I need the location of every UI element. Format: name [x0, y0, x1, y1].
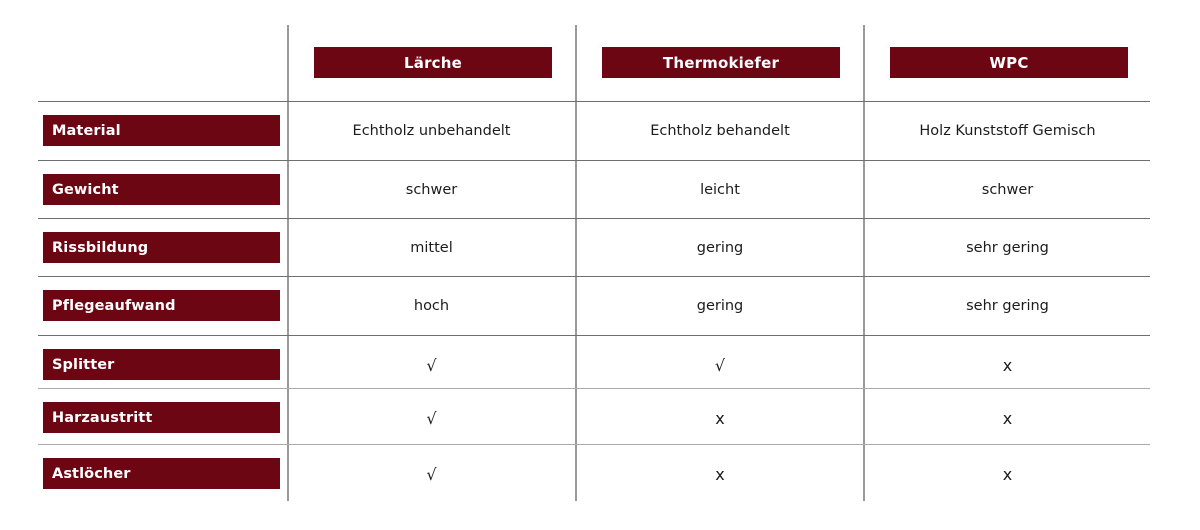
row-label-pflegeaufwand: Pflegeaufwand: [43, 290, 280, 321]
row-label-text: Harzaustritt: [52, 410, 152, 426]
table-cell: √: [288, 389, 575, 447]
table-cell: x: [577, 389, 863, 447]
table-cell: Holz Kunststoff Gemisch: [865, 102, 1150, 160]
table-row: Harzaustritt √ x x: [0, 389, 1200, 447]
table-cell: sehr gering: [865, 277, 1150, 335]
row-label-text: Astlöcher: [52, 466, 131, 482]
column-header-label: Lärche: [404, 54, 462, 72]
table-cell: √: [577, 336, 863, 394]
table-cell: hoch: [288, 277, 575, 335]
row-label-text: Rissbildung: [52, 240, 148, 256]
column-header-larche: Lärche: [314, 47, 552, 78]
comparison-table: Lärche Thermokiefer WPC Material Echthol…: [0, 0, 1200, 530]
table-cell: x: [865, 445, 1150, 503]
table-cell: leicht: [577, 161, 863, 219]
table-row: Material Echtholz unbehandelt Echtholz b…: [0, 102, 1200, 160]
row-label-gewicht: Gewicht: [43, 174, 280, 205]
table-header-row: Lärche Thermokiefer WPC: [0, 47, 1200, 78]
table-cell: √: [288, 445, 575, 503]
row-label-astloecher: Astlöcher: [43, 458, 280, 489]
row-label-text: Material: [52, 123, 121, 139]
row-label-splitter: Splitter: [43, 349, 280, 380]
table-cell: Echtholz unbehandelt: [288, 102, 575, 160]
column-header-thermokiefer: Thermokiefer: [602, 47, 840, 78]
table-cell: gering: [577, 277, 863, 335]
table-cell: sehr gering: [865, 219, 1150, 277]
table-row: Astlöcher √ x x: [0, 445, 1200, 503]
table-cell: gering: [577, 219, 863, 277]
table-cell: schwer: [288, 161, 575, 219]
row-label-material: Material: [43, 115, 280, 146]
table-cell: schwer: [865, 161, 1150, 219]
row-label-harzaustritt: Harzaustritt: [43, 402, 280, 433]
table-cell: √: [288, 336, 575, 394]
table-cell: x: [865, 336, 1150, 394]
table-cell: x: [577, 445, 863, 503]
column-header-label: Thermokiefer: [663, 54, 779, 72]
table-row: Splitter √ √ x: [0, 336, 1200, 394]
row-label-rissbildung: Rissbildung: [43, 232, 280, 263]
column-header-label: WPC: [989, 54, 1028, 72]
table-cell: x: [865, 389, 1150, 447]
row-label-text: Splitter: [52, 357, 114, 373]
row-label-text: Gewicht: [52, 182, 119, 198]
table-cell: Echtholz behandelt: [577, 102, 863, 160]
table-row: Rissbildung mittel gering sehr gering: [0, 219, 1200, 277]
table-row: Pflegeaufwand hoch gering sehr gering: [0, 277, 1200, 335]
table-cell: mittel: [288, 219, 575, 277]
row-label-text: Pflegeaufwand: [52, 298, 176, 314]
table-row: Gewicht schwer leicht schwer: [0, 161, 1200, 219]
column-header-wpc: WPC: [890, 47, 1128, 78]
